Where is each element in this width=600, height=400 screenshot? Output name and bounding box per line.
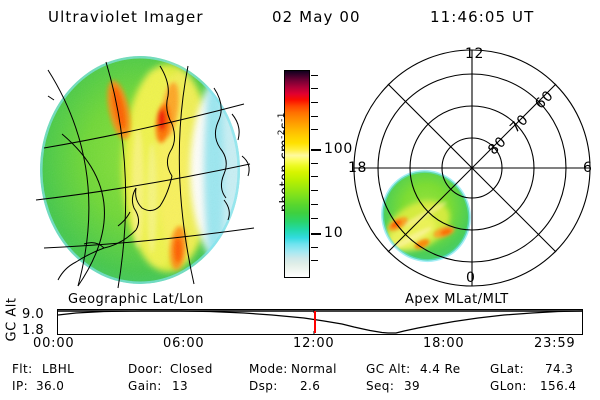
flt-value: LBHL	[42, 362, 74, 376]
observation-time: 11:46:05 UT	[430, 8, 534, 26]
orbit-altitude-panel[interactable]: Geographic Lat/Lon Apex MLat/MLT GC Alt …	[0, 292, 600, 358]
colorbar-tick-10	[311, 233, 321, 235]
observation-date: 02 May 00	[272, 8, 361, 26]
colorbar-tick-minor	[311, 204, 318, 205]
gcalt-label: GC Alt:	[366, 362, 411, 376]
time-tick-0000: 00:00	[33, 336, 74, 351]
page-title: Ultraviolet Imager	[48, 8, 204, 26]
dsp-value: 2.6	[300, 379, 320, 393]
dsp-label: Dsp:	[249, 379, 278, 393]
colorbar-tick-minor	[311, 129, 318, 130]
glat-value: 74.3	[545, 362, 573, 376]
glon-label: GLon:	[490, 379, 527, 393]
seq-value: 39	[404, 379, 420, 393]
caption-geographic: Geographic Lat/Lon	[68, 292, 204, 307]
aurora-patch	[367, 156, 485, 276]
current-time-marker[interactable]	[314, 311, 316, 333]
orbit-plot-box[interactable]	[57, 309, 583, 335]
glat-label: GLat:	[490, 362, 524, 376]
gain-value: 13	[172, 379, 188, 393]
colorbar-tick-minor	[311, 102, 318, 103]
door-value: Closed	[170, 362, 213, 376]
colorbar-tick-minor	[311, 163, 318, 164]
status-block: Flt: LBHL IP: 36.0 Door: Closed Gain: 13…	[0, 362, 600, 400]
mlt-label-0: 0	[466, 270, 476, 286]
colorbar-tick-minor	[311, 88, 318, 89]
mode-value: Normal	[291, 362, 337, 376]
orbit-altitude-curve	[58, 310, 582, 334]
colorbar-tick-minor	[311, 218, 318, 219]
time-tick-1800: 18:00	[423, 336, 464, 351]
time-tick-1200: 12:00	[293, 336, 334, 351]
colorbar-tick-minor	[311, 176, 318, 177]
colorbar-tick-100	[311, 149, 321, 151]
polar-grid	[354, 50, 590, 286]
mode-label: Mode:	[249, 362, 288, 376]
globe-image[interactable]	[18, 48, 266, 294]
time-tick-0600: 06:00	[163, 336, 204, 351]
caption-apex: Apex MLat/MLT	[405, 292, 509, 307]
colorbar-tick-minor	[311, 190, 318, 191]
colorbar-tick-minor	[311, 75, 318, 76]
gcalt-axis-label: GC Alt	[5, 295, 20, 345]
time-tick-2359: 23:59	[534, 336, 575, 351]
mlt-label-18: 18	[348, 160, 367, 176]
mlt-label-12: 12	[465, 46, 484, 62]
gain-label: Gain:	[128, 379, 162, 393]
seq-label: Seq:	[366, 379, 394, 393]
ip-label: IP:	[12, 379, 28, 393]
colorbar-gradient[interactable]	[284, 70, 310, 278]
glon-value: 156.4	[540, 379, 576, 393]
colorbar-panel: photon cm-2s-1 100 10	[262, 62, 350, 292]
gcalt-value: 4.4 Re	[420, 362, 460, 376]
mlt-label-6: 6	[583, 160, 593, 176]
geographic-globe-panel[interactable]	[18, 48, 266, 294]
ip-value: 36.0	[36, 379, 64, 393]
door-label: Door:	[128, 362, 163, 376]
colorbar-tick-minor	[311, 260, 318, 261]
header-bar: Ultraviolet Imager 02 May 00 11:46:05 UT	[0, 8, 600, 32]
colorbar-label-10: 10	[324, 225, 343, 241]
polar-dial-image[interactable]	[352, 48, 592, 294]
flt-label: Flt:	[12, 362, 33, 376]
colorbar-label-100: 100	[324, 141, 353, 157]
colorbar-tick-minor	[311, 247, 318, 248]
colorbar-tick-minor	[311, 116, 318, 117]
apex-polar-panel[interactable]: 12 18 6 0 80 70 60	[352, 48, 592, 294]
gcalt-tick-top: 9.0	[22, 307, 44, 322]
